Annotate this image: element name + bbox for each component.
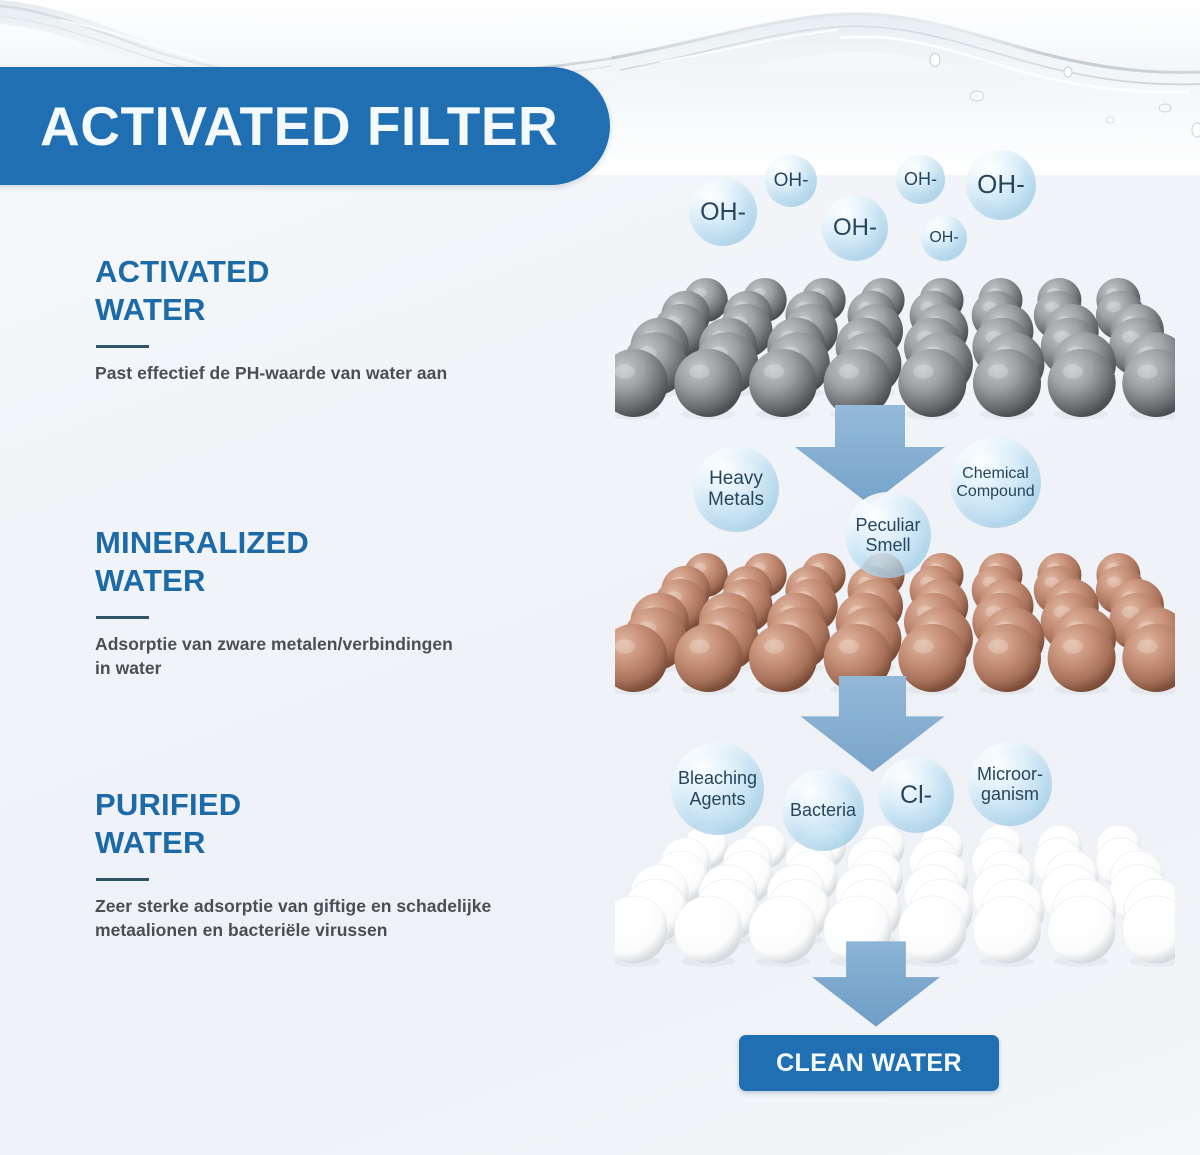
stage-block-activated-water: ACTIVATED WATER Past effectief de PH-waa…	[95, 253, 615, 385]
stage-divider	[96, 878, 149, 881]
bubble-top-4: OH-	[966, 150, 1036, 220]
bubble-middle-1: Peculiar Smell	[845, 492, 931, 578]
stage-description-purified: Zeer sterke adsorptie van giftige en sch…	[95, 894, 615, 944]
gray-spheres	[615, 258, 1175, 423]
stage-block-purified-water: PURIFIED WATER Zeer sterke adsorptie van…	[95, 786, 615, 943]
stage-divider	[96, 345, 149, 348]
infographic-canvas: ACTIVATED FILTER ACTIVATED WATER Past ef…	[0, 0, 1200, 1155]
stage-divider	[96, 616, 149, 619]
stage-heading-mineralized: MINERALIZED WATER	[95, 524, 615, 600]
page-title: ACTIVATED FILTER	[40, 99, 558, 154]
bubble-bottom-1: Bacteria	[782, 769, 864, 851]
bubble-bottom-0: Bleaching Agents	[671, 742, 764, 835]
bubble-middle-2: Chemical Compound	[950, 437, 1041, 528]
bubble-top-0: OH-	[689, 178, 757, 246]
clean-water-label: CLEAN WATER	[776, 1049, 962, 1078]
stage-heading-activated: ACTIVATED WATER	[95, 253, 615, 329]
clean-water-button[interactable]: CLEAN WATER	[739, 1035, 999, 1091]
arrow-down-icon	[812, 938, 940, 1030]
stage-description-activated: Past effectief de PH-waarde van water aa…	[95, 361, 615, 386]
bubble-bottom-3: Microor- ganism	[968, 742, 1052, 826]
bubble-top-2: OH-	[822, 195, 888, 261]
stage-heading-purified: PURIFIED WATER	[95, 786, 615, 862]
arrow-down-icon	[795, 405, 945, 505]
page-title-banner: ACTIVATED FILTER	[0, 67, 610, 185]
stage-block-mineralized-water: MINERALIZED WATER Adsorptie van zware me…	[95, 524, 615, 681]
bubble-top-3: OH-	[896, 155, 945, 204]
bubble-middle-0: Heavy Metals	[693, 446, 779, 532]
stage-description-mineralized: Adsorptie van zware metalen/verbindingen…	[95, 632, 615, 682]
bubble-top-5: OH-	[921, 215, 967, 261]
bubble-top-1: OH-	[765, 155, 817, 207]
bubble-bottom-2: Cl-	[878, 757, 954, 833]
